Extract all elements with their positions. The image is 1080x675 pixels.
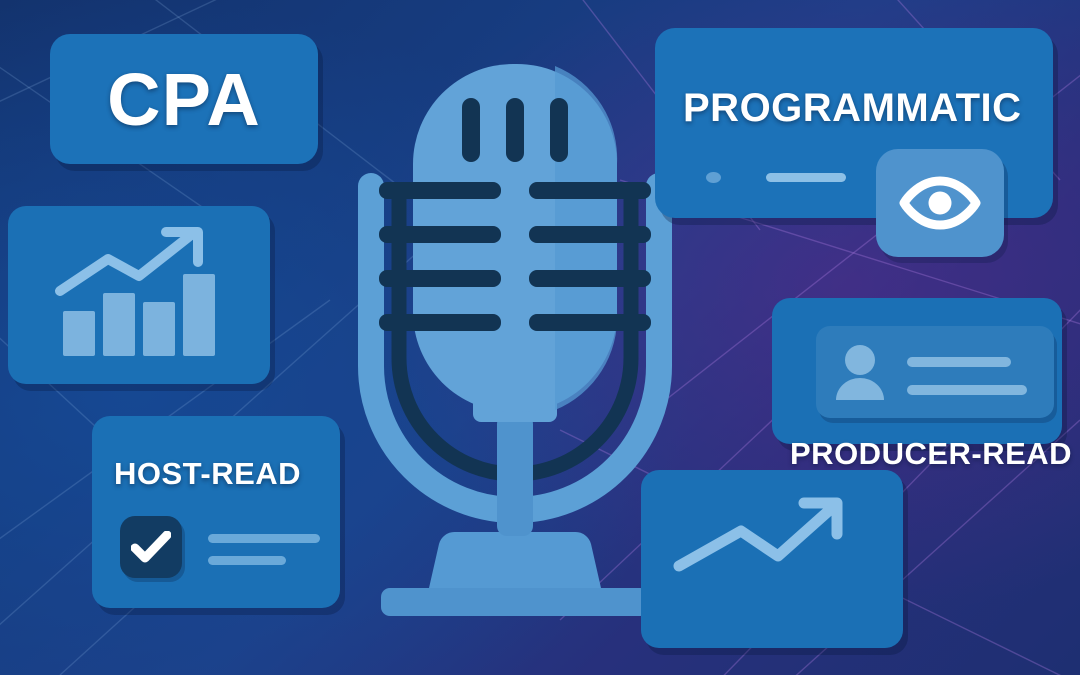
host-read-label: HOST-READ xyxy=(114,456,301,492)
programmatic-label: PROGRAMMATIC xyxy=(683,86,1022,131)
producer-read-label: PRODUCER-READ xyxy=(790,436,1072,472)
host-read-line-2 xyxy=(208,556,286,565)
check-icon xyxy=(131,531,171,563)
card-host-read[interactable]: HOST-READ xyxy=(92,416,340,608)
podcast-microphone xyxy=(355,36,675,651)
trending-up-arrow-icon xyxy=(641,470,903,648)
illustration-canvas: CPA PROGRAMMATIC HOST-READ xyxy=(0,0,1080,675)
bullet-dot-icon xyxy=(706,172,721,183)
card-trend-arrow[interactable] xyxy=(641,470,903,648)
card-bar-chart[interactable] xyxy=(8,206,270,384)
host-read-line-1 xyxy=(208,534,320,543)
eye-icon xyxy=(899,175,981,231)
eye-icon-tile[interactable] xyxy=(876,149,1004,257)
card-cpa[interactable]: CPA xyxy=(50,34,318,164)
producer-read-line-1 xyxy=(907,357,1011,367)
producer-read-line-2 xyxy=(907,385,1027,395)
bar-chart-growth-icon xyxy=(8,206,270,384)
cpa-label: CPA xyxy=(50,34,318,164)
text-line-placeholder xyxy=(766,173,846,182)
check-icon-tile[interactable] xyxy=(120,516,182,578)
person-avatar-icon xyxy=(834,344,886,400)
